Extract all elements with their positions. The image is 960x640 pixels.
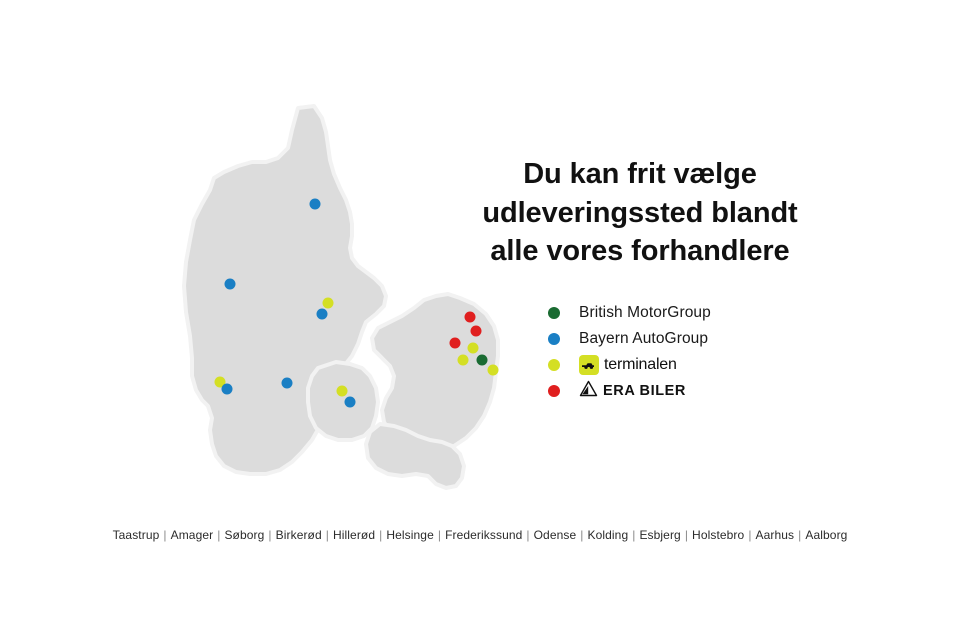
legend-item-era-biler[interactable]: ERA BILER (548, 378, 808, 404)
city-separator: | (632, 528, 635, 542)
legend-dot-blue (548, 333, 560, 345)
map-marker-helsinge-red[interactable] (465, 312, 476, 323)
city-list: Taastrup|Amager|Søborg|Birkerød|Hillerød… (0, 528, 960, 542)
map-marker-aarhus-blue[interactable] (317, 309, 328, 320)
city-holstebro: Holstebro (692, 528, 744, 542)
map-marker-aarhus-yellow[interactable] (323, 298, 334, 309)
city-aalborg: Aalborg (805, 528, 847, 542)
era-triangle-icon (579, 380, 599, 403)
map-marker-birkerod-yellow[interactable] (468, 343, 479, 354)
legend-dot-red (548, 385, 560, 397)
map-marker-odense-blue[interactable] (345, 397, 356, 408)
headline-line-2: udleveringssted blandt (455, 194, 825, 233)
legend-dot-yellow (548, 359, 560, 371)
map-marker-hillerod-red[interactable] (471, 326, 482, 337)
legend-label-british-motorgroup: British MotorGroup (579, 304, 711, 322)
city-separator: | (526, 528, 529, 542)
city-separator: | (379, 528, 382, 542)
map-marker-soborg-green[interactable] (477, 355, 488, 366)
city-separator: | (438, 528, 441, 542)
city-separator: | (217, 528, 220, 542)
legend-dot-green (548, 307, 560, 319)
city-helsinge: Helsinge (386, 528, 434, 542)
city-hillerød: Hillerød (333, 528, 375, 542)
map-marker-amager-yellow[interactable] (488, 365, 499, 376)
city-aarhus: Aarhus (756, 528, 795, 542)
city-separator: | (748, 528, 751, 542)
city-esbjerg: Esbjerg (639, 528, 680, 542)
city-amager: Amager (171, 528, 214, 542)
legend-item-british-motorgroup[interactable]: British MotorGroup (548, 300, 808, 326)
map-marker-frederikssund-red[interactable] (450, 338, 461, 349)
poster-canvas: Du kan frit vælge udleveringssted blandt… (0, 0, 960, 640)
city-separator: | (685, 528, 688, 542)
terminalen-logo-text: terminalen (604, 356, 677, 374)
legend-item-bayern-autogroup[interactable]: Bayern AutoGroup (548, 326, 808, 352)
city-separator: | (580, 528, 583, 542)
page-title: Du kan frit vælge udleveringssted blandt… (455, 155, 825, 271)
era-biler-logo: ERA BILER (579, 380, 686, 403)
map-marker-taastrup-yellow[interactable] (458, 355, 469, 366)
headline-line-3: alle vores forhandlere (455, 232, 825, 271)
city-taastrup: Taastrup (113, 528, 160, 542)
city-søborg: Søborg (224, 528, 264, 542)
map-marker-aalborg[interactable] (310, 199, 321, 210)
map-marker-odense-yellow[interactable] (337, 386, 348, 397)
terminalen-car-icon (579, 355, 599, 375)
headline-line-1: Du kan frit vælge (455, 155, 825, 194)
region-funen (308, 362, 378, 440)
city-separator: | (798, 528, 801, 542)
map-marker-kolding-blue[interactable] (282, 378, 293, 389)
city-separator: | (268, 528, 271, 542)
city-kolding: Kolding (587, 528, 628, 542)
legend-label-bayern-autogroup: Bayern AutoGroup (579, 330, 708, 348)
city-separator: | (326, 528, 329, 542)
map-marker-holstebro[interactable] (225, 279, 236, 290)
city-birkerød: Birkerød (276, 528, 322, 542)
city-odense: Odense (534, 528, 577, 542)
terminalen-logo: terminalen (579, 355, 677, 375)
city-separator: | (163, 528, 166, 542)
brand-legend: British MotorGroup Bayern AutoGroup term… (548, 300, 808, 404)
city-frederikssund: Frederikssund (445, 528, 522, 542)
legend-item-terminalen[interactable]: terminalen (548, 352, 808, 378)
map-marker-esbjerg-blue[interactable] (222, 384, 233, 395)
era-biler-logo-text: ERA BILER (603, 383, 686, 399)
